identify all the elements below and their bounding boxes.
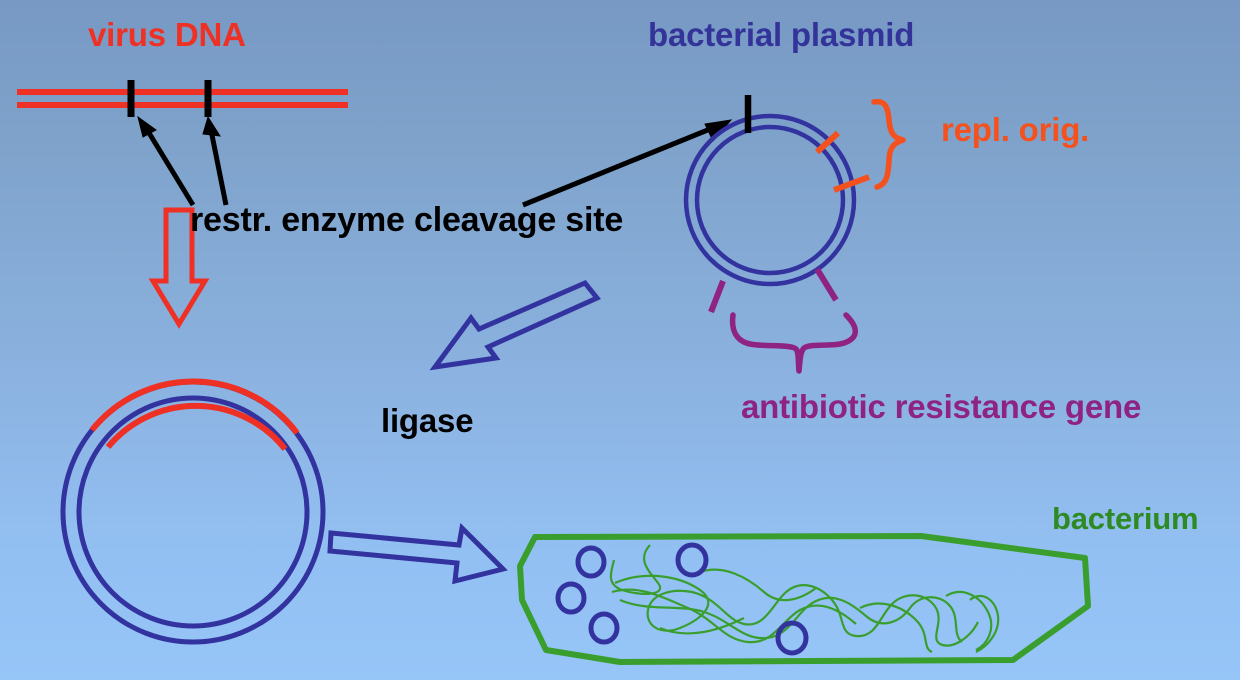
label-antibiotic-resistance-gene: antibiotic resistance gene xyxy=(741,390,1141,423)
virus-dna-strand xyxy=(17,80,348,117)
label-restr-enzyme-cleavage-site: restr. enzyme cleavage site xyxy=(190,203,623,237)
plasmid-cleavage-pointer-arrow xyxy=(523,120,731,205)
label-bacterium: bacterium xyxy=(1052,503,1198,534)
diagram-graphics xyxy=(0,0,1240,680)
resistance-mark-2 xyxy=(817,269,836,300)
ligation-arrow xyxy=(435,283,597,367)
transformation-arrow xyxy=(330,528,503,581)
cleavage-pointer-arrows xyxy=(138,117,226,205)
bacterium-plasmid-3 xyxy=(591,614,617,642)
bacterium-plasmid-1 xyxy=(578,548,604,576)
repl-orig-brace xyxy=(874,102,903,187)
antibiotic-resistance-brace xyxy=(733,315,856,371)
diagram-canvas: virus DNA bacterial plasmid repl. orig. … xyxy=(0,0,1240,680)
label-ligase: ligase xyxy=(381,404,473,437)
label-bacterial-plasmid: bacterial plasmid xyxy=(648,18,914,51)
bacterium-plasmid-2 xyxy=(558,584,584,612)
recombinant-plasmid xyxy=(63,381,323,642)
bacterium-plasmid-5 xyxy=(778,623,806,653)
label-repl-orig: repl. orig. xyxy=(941,113,1089,146)
bacterium-plasmid-4 xyxy=(678,545,706,575)
label-virus-dna: virus DNA xyxy=(88,18,246,51)
bacterium-cell xyxy=(520,536,1088,662)
resistance-mark-1 xyxy=(711,281,723,312)
